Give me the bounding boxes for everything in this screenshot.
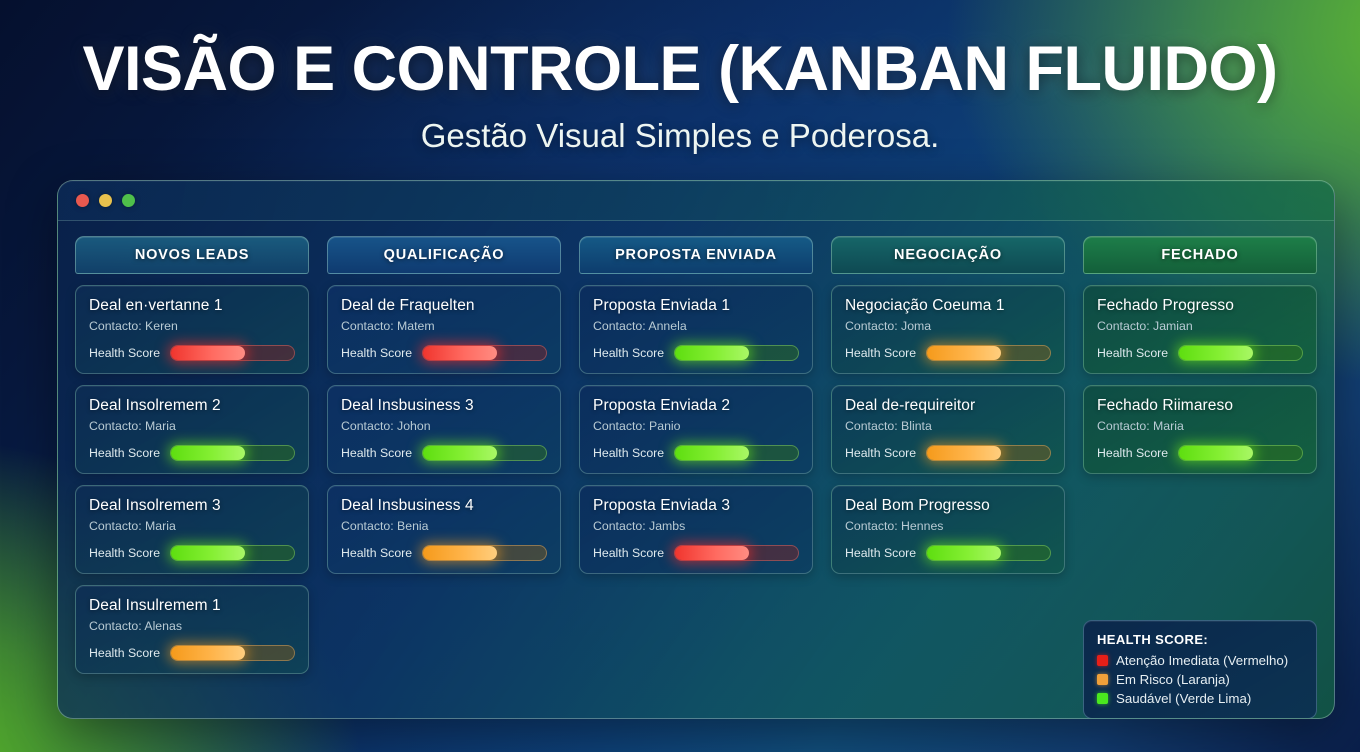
deal-card[interactable]: Deal de FraqueltenContacto: MatemHealth … xyxy=(327,285,561,374)
health-score-label: Health Score xyxy=(341,446,412,460)
health-score-row: Health Score xyxy=(89,345,295,361)
page-subtitle: Gestão Visual Simples e Poderosa. xyxy=(0,117,1360,155)
health-score-label: Health Score xyxy=(593,446,664,460)
column-header[interactable]: QUALIFICAÇÃO xyxy=(327,236,561,274)
deal-card[interactable]: Deal en·vertanne 1Contacto: KerenHealth … xyxy=(75,285,309,374)
deal-card[interactable]: Deal Insbusiness 4Contacto: BeniaHealth … xyxy=(327,485,561,574)
legend-item-label: Em Risco (Laranja) xyxy=(1116,672,1230,687)
deal-card[interactable]: Fechado RiimaresoContacto: MariaHealth S… xyxy=(1083,385,1317,474)
health-score-bar-fill xyxy=(423,446,497,460)
health-score-bar-fill xyxy=(1179,446,1253,460)
deal-card[interactable]: Deal de-requireitorContacto: BlintaHealt… xyxy=(831,385,1065,474)
column-header[interactable]: FECHADO xyxy=(1083,236,1317,274)
health-score-label: Health Score xyxy=(593,546,664,560)
kanban-column: NEGOCIAÇÃONegociação Coeuma 1Contacto: J… xyxy=(831,236,1065,719)
health-score-bar xyxy=(1178,445,1303,461)
deal-card-title: Deal en·vertanne 1 xyxy=(89,297,295,315)
health-score-label: Health Score xyxy=(89,346,160,360)
kanban-column: QUALIFICAÇÃODeal de FraqueltenContacto: … xyxy=(327,236,561,719)
health-score-row: Health Score xyxy=(341,545,547,561)
deal-card-contact: Contacto: Joma xyxy=(845,319,1051,333)
close-window-dot[interactable] xyxy=(76,194,89,207)
deal-card-contact: Contacto: Keren xyxy=(89,319,295,333)
deal-card-title: Deal Bom Progresso xyxy=(845,497,1051,515)
health-score-bar-fill xyxy=(1179,346,1253,360)
health-score-label: Health Score xyxy=(89,546,160,560)
deal-card-title: Proposta Enviada 3 xyxy=(593,497,799,515)
deal-card-title: Deal de-requireitor xyxy=(845,397,1051,415)
legend-item: Atenção Imediata (Vermelho) xyxy=(1097,653,1303,668)
deal-card-contact: Contacto: Blinta xyxy=(845,419,1051,433)
health-score-bar-fill xyxy=(927,546,1001,560)
deal-card-title: Proposta Enviada 1 xyxy=(593,297,799,315)
deal-card[interactable]: Deal Insolremem 2Contacto: MariaHealth S… xyxy=(75,385,309,474)
deal-card[interactable]: Proposta Enviada 1Contacto: AnnelaHealth… xyxy=(579,285,813,374)
column-header[interactable]: NEGOCIAÇÃO xyxy=(831,236,1065,274)
browser-window: NOVOS LEADSDeal en·vertanne 1Contacto: K… xyxy=(57,180,1335,719)
deal-card[interactable]: Proposta Enviada 2Contacto: PanioHealth … xyxy=(579,385,813,474)
health-score-row: Health Score xyxy=(1097,445,1303,461)
legend-item-label: Saudável (Verde Lima) xyxy=(1116,691,1251,706)
health-score-bar-fill xyxy=(675,446,749,460)
health-score-bar xyxy=(926,445,1051,461)
health-score-row: Health Score xyxy=(341,345,547,361)
deal-card-title: Deal de Fraquelten xyxy=(341,297,547,315)
health-score-bar xyxy=(170,645,295,661)
deal-card-contact: Contacto: Panio xyxy=(593,419,799,433)
deal-card-contact: Contacto: Maria xyxy=(89,419,295,433)
page-title: VISÃO E CONTROLE (KANBAN FLUIDO) xyxy=(0,38,1360,101)
legend-swatch-icon xyxy=(1097,674,1108,685)
health-score-label: Health Score xyxy=(845,346,916,360)
deal-card-title: Proposta Enviada 2 xyxy=(593,397,799,415)
column-header[interactable]: PROPOSTA ENVIADA xyxy=(579,236,813,274)
health-score-bar xyxy=(1178,345,1303,361)
health-score-bar xyxy=(926,345,1051,361)
deal-card[interactable]: Deal Insulremem 1Contacto: AlenasHealth … xyxy=(75,585,309,674)
health-score-label: Health Score xyxy=(89,446,160,460)
health-score-bar-fill xyxy=(675,346,749,360)
deal-card[interactable]: Proposta Enviada 3Contacto: JambsHealth … xyxy=(579,485,813,574)
deal-card-contact: Contacto: Maria xyxy=(89,519,295,533)
deal-card-title: Deal Insolremem 2 xyxy=(89,397,295,415)
kanban-column: NOVOS LEADSDeal en·vertanne 1Contacto: K… xyxy=(75,236,309,719)
health-score-row: Health Score xyxy=(845,445,1051,461)
health-score-row: Health Score xyxy=(89,645,295,661)
deal-card-title: Fechado Progresso xyxy=(1097,297,1303,315)
deal-card-contact: Contacto: Jamian xyxy=(1097,319,1303,333)
legend-title: HEALTH SCORE: xyxy=(1097,632,1303,647)
deal-card-contact: Contacto: Alenas xyxy=(89,619,295,633)
deal-card-contact: Contacto: Annela xyxy=(593,319,799,333)
deal-card-title: Negociação Coeuma 1 xyxy=(845,297,1051,315)
column-card-list: Fechado ProgressoContacto: JamianHealth … xyxy=(1083,285,1317,474)
legend-item: Em Risco (Laranja) xyxy=(1097,672,1303,687)
kanban-column: PROPOSTA ENVIADAProposta Enviada 1Contac… xyxy=(579,236,813,719)
kanban-column: FECHADOFechado ProgressoContacto: Jamian… xyxy=(1083,236,1317,719)
health-score-bar xyxy=(422,545,547,561)
deal-card-contact: Contacto: Benia xyxy=(341,519,547,533)
deal-card-contact: Contacto: Johon xyxy=(341,419,547,433)
slide-header: VISÃO E CONTROLE (KANBAN FLUIDO) Gestão … xyxy=(0,0,1360,155)
health-score-row: Health Score xyxy=(593,445,799,461)
health-score-row: Health Score xyxy=(845,545,1051,561)
health-score-label: Health Score xyxy=(89,646,160,660)
health-score-label: Health Score xyxy=(593,346,664,360)
health-score-bar-fill xyxy=(171,646,245,660)
health-score-label: Health Score xyxy=(1097,446,1168,460)
health-score-row: Health Score xyxy=(593,345,799,361)
legend-swatch-icon xyxy=(1097,655,1108,666)
deal-card[interactable]: Deal Insbusiness 3Contacto: JohonHealth … xyxy=(327,385,561,474)
health-score-legend: HEALTH SCORE:Atenção Imediata (Vermelho)… xyxy=(1083,620,1317,719)
health-score-bar-fill xyxy=(171,546,245,560)
deal-card-title: Deal Insolremem 3 xyxy=(89,497,295,515)
health-score-row: Health Score xyxy=(341,445,547,461)
slide-canvas: VISÃO E CONTROLE (KANBAN FLUIDO) Gestão … xyxy=(0,0,1360,752)
maximize-window-dot[interactable] xyxy=(122,194,135,207)
health-score-bar xyxy=(422,345,547,361)
deal-card[interactable]: Fechado ProgressoContacto: JamianHealth … xyxy=(1083,285,1317,374)
deal-card-contact: Contacto: Hennes xyxy=(845,519,1051,533)
health-score-bar-fill xyxy=(675,546,749,560)
minimize-window-dot[interactable] xyxy=(99,194,112,207)
health-score-bar-fill xyxy=(171,346,245,360)
health-score-bar xyxy=(170,545,295,561)
deal-card-title: Deal Insbusiness 3 xyxy=(341,397,547,415)
health-score-bar xyxy=(170,345,295,361)
health-score-row: Health Score xyxy=(89,545,295,561)
column-card-list: Proposta Enviada 1Contacto: AnnelaHealth… xyxy=(579,285,813,574)
kanban-board: NOVOS LEADSDeal en·vertanne 1Contacto: K… xyxy=(58,221,1334,719)
health-score-label: Health Score xyxy=(341,546,412,560)
health-score-bar-fill xyxy=(423,546,497,560)
health-score-bar-fill xyxy=(423,346,497,360)
health-score-bar xyxy=(674,545,799,561)
legend-item: Saudável (Verde Lima) xyxy=(1097,691,1303,706)
deal-card[interactable]: Deal Insolremem 3Contacto: MariaHealth S… xyxy=(75,485,309,574)
health-score-bar xyxy=(674,345,799,361)
health-score-row: Health Score xyxy=(1097,345,1303,361)
window-titlebar xyxy=(58,181,1334,221)
health-score-bar-fill xyxy=(171,446,245,460)
deal-card-contact: Contacto: Matem xyxy=(341,319,547,333)
deal-card-contact: Contacto: Maria xyxy=(1097,419,1303,433)
health-score-label: Health Score xyxy=(341,346,412,360)
legend-swatch-icon xyxy=(1097,693,1108,704)
deal-card[interactable]: Negociação Coeuma 1Contacto: JomaHealth … xyxy=(831,285,1065,374)
health-score-row: Health Score xyxy=(89,445,295,461)
health-score-row: Health Score xyxy=(593,545,799,561)
health-score-label: Health Score xyxy=(845,546,916,560)
health-score-bar xyxy=(674,445,799,461)
column-card-list: Negociação Coeuma 1Contacto: JomaHealth … xyxy=(831,285,1065,574)
deal-card-title: Deal Insbusiness 4 xyxy=(341,497,547,515)
legend-item-label: Atenção Imediata (Vermelho) xyxy=(1116,653,1288,668)
deal-card-contact: Contacto: Jambs xyxy=(593,519,799,533)
health-score-bar-fill xyxy=(927,446,1001,460)
health-score-label: Health Score xyxy=(845,446,916,460)
deal-card-title: Deal Insulremem 1 xyxy=(89,597,295,615)
health-score-bar xyxy=(926,545,1051,561)
health-score-bar xyxy=(170,445,295,461)
column-header[interactable]: NOVOS LEADS xyxy=(75,236,309,274)
health-score-bar xyxy=(422,445,547,461)
health-score-bar-fill xyxy=(927,346,1001,360)
deal-card[interactable]: Deal Bom ProgressoContacto: HennesHealth… xyxy=(831,485,1065,574)
deal-card-title: Fechado Riimareso xyxy=(1097,397,1303,415)
column-card-list: Deal de FraqueltenContacto: MatemHealth … xyxy=(327,285,561,574)
health-score-row: Health Score xyxy=(845,345,1051,361)
column-card-list: Deal en·vertanne 1Contacto: KerenHealth … xyxy=(75,285,309,674)
health-score-label: Health Score xyxy=(1097,346,1168,360)
